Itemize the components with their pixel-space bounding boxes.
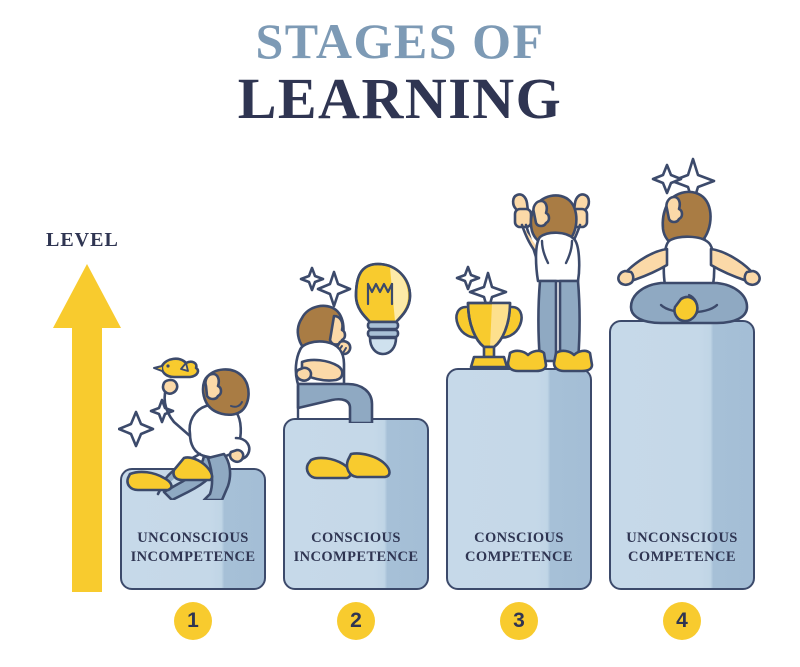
stage-label-2-line1: CONSCIOUS [311,530,401,546]
stage-label-3: CONSCIOUS COMPETENCE [448,529,590,568]
stage-label-3-line1: CONSCIOUS [474,530,564,546]
title-line-stages-of: STAGES OF [0,16,800,66]
illustration-stage-3-shoes [506,345,606,375]
illustration-stage-4 [605,155,765,325]
illustration-stage-2 [278,258,438,423]
infographic-canvas: STAGES OF LEARNING LEVEL UNCONSCIOUS INC… [0,0,800,667]
illustration-stage-2-shoes [303,448,413,488]
step-number-1[interactable]: 1 [174,602,212,640]
stage-label-1-line1: UNCONSCIOUS [137,530,249,546]
stage-label-1-line2: INCOMPETENCE [122,548,264,568]
step-number-3[interactable]: 3 [500,602,538,640]
stage-label-4-line1: UNCONSCIOUS [626,530,738,546]
stage-label-2-line2: INCOMPETENCE [285,548,427,568]
stage-bar-3[interactable]: CONSCIOUS COMPETENCE [446,368,592,590]
illustration-stage-1-shoes [126,452,256,497]
step-number-2[interactable]: 2 [337,602,375,640]
step-number-4[interactable]: 4 [663,602,701,640]
stage-bar-2[interactable]: CONSCIOUS INCOMPETENCE [283,418,429,590]
up-arrow-icon [52,264,122,592]
stage-label-4-line2: COMPETENCE [611,548,753,568]
stage-bar-4[interactable]: UNCONSCIOUS COMPETENCE [609,320,755,590]
stage-label-3-line2: COMPETENCE [448,548,590,568]
stage-label-1: UNCONSCIOUS INCOMPETENCE [122,529,264,568]
axis-label-level: LEVEL [46,229,119,252]
page-title: STAGES OF LEARNING [0,16,800,128]
illustration-stage-3 [452,165,612,375]
stage-label-2: CONSCIOUS INCOMPETENCE [285,529,427,568]
title-line-learning: LEARNING [0,70,800,128]
stage-label-4: UNCONSCIOUS COMPETENCE [611,529,753,568]
